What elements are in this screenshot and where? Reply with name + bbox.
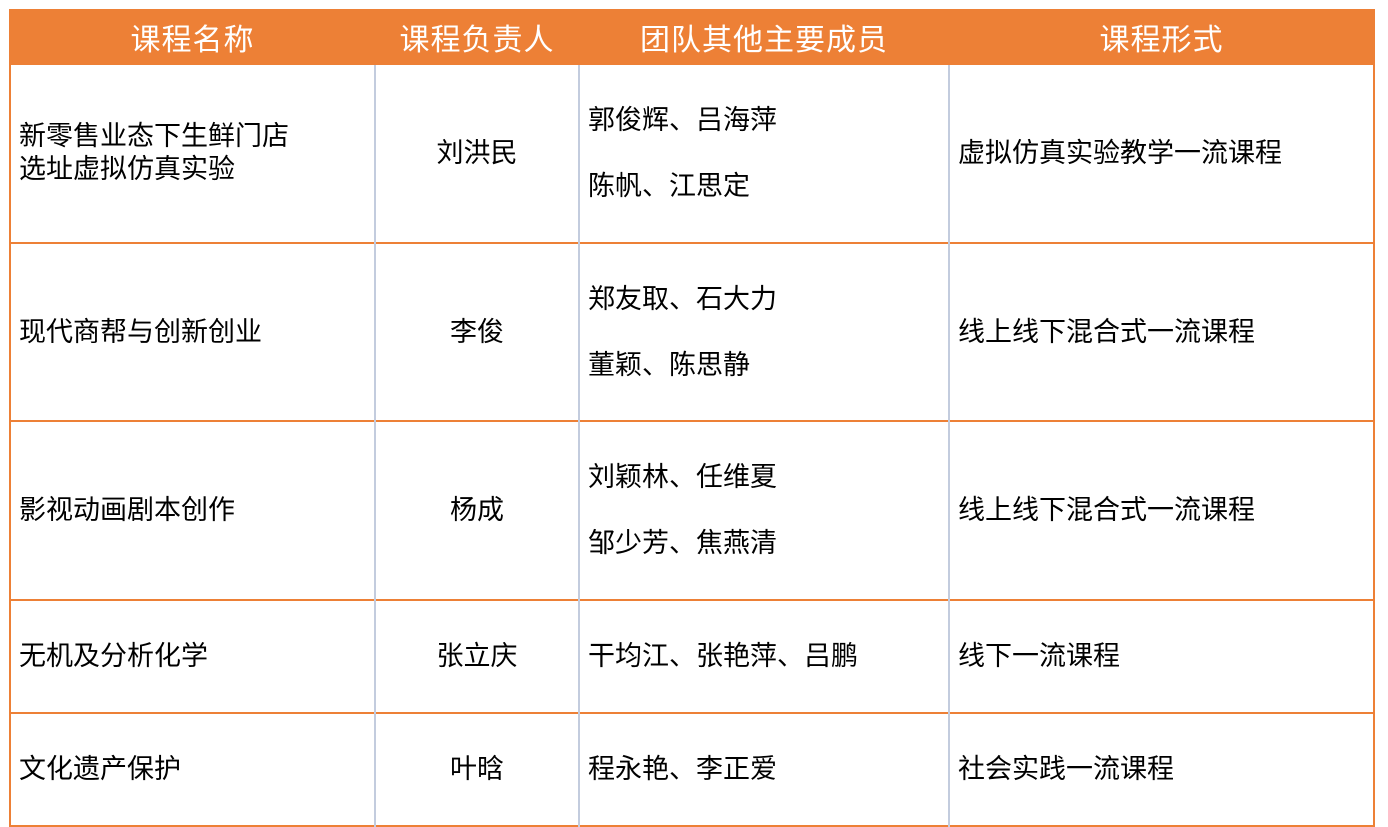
team-members-line-2: 邹少芳、焦燕清	[588, 527, 940, 560]
cell-team-members: 干均江、张艳萍、吕鹏	[579, 600, 949, 713]
cell-course-name: 影视动画剧本创作	[10, 421, 375, 600]
team-members-line-1: 郭俊辉、吕海萍	[588, 104, 940, 137]
cell-course-form: 线下一流课程	[949, 600, 1374, 713]
course-name-line-1: 现代商帮与创新创业	[19, 316, 366, 349]
header-row: 课程名称 课程负责人 团队其他主要成员 课程形式	[10, 10, 1374, 64]
cell-course-leader: 张立庆	[375, 600, 579, 713]
team-members-line-2: 董颖、陈思静	[588, 349, 940, 382]
course-name-line-1: 影视动画剧本创作	[19, 494, 366, 527]
cell-course-name: 文化遗产保护	[10, 713, 375, 826]
cell-team-members: 郭俊辉、吕海萍 陈帆、江思定	[579, 64, 949, 243]
course-name-line-1: 无机及分析化学	[19, 640, 366, 673]
team-members-line-1: 刘颖林、任维夏	[588, 461, 940, 494]
cell-course-form: 虚拟仿真实验教学一流课程	[949, 64, 1374, 243]
column-header-course-form: 课程形式	[949, 10, 1374, 64]
course-list-table: 课程名称 课程负责人 团队其他主要成员 课程形式 新零售业态下生鲜门店 选址虚拟…	[9, 9, 1375, 827]
table-row: 影视动画剧本创作 杨成 刘颖林、任维夏 邹少芳、焦燕清 线上线下混合式一流课程	[10, 421, 1374, 600]
column-header-team-members: 团队其他主要成员	[579, 10, 949, 64]
cell-course-name: 现代商帮与创新创业	[10, 243, 375, 422]
cell-course-leader: 李俊	[375, 243, 579, 422]
course-name-line-2: 选址虚拟仿真实验	[19, 153, 366, 186]
team-members-line-2: 陈帆、江思定	[588, 170, 940, 203]
cell-course-leader: 叶晗	[375, 713, 579, 826]
table-row: 无机及分析化学 张立庆 干均江、张艳萍、吕鹏 线下一流课程	[10, 600, 1374, 713]
team-members-line-1: 干均江、张艳萍、吕鹏	[588, 640, 940, 673]
column-header-course-name: 课程名称	[10, 10, 375, 64]
cell-course-name: 新零售业态下生鲜门店 选址虚拟仿真实验	[10, 64, 375, 243]
course-name-line-1: 新零售业态下生鲜门店	[19, 120, 366, 153]
cell-course-form: 线上线下混合式一流课程	[949, 243, 1374, 422]
cell-course-form: 社会实践一流课程	[949, 713, 1374, 826]
table-body: 新零售业态下生鲜门店 选址虚拟仿真实验 刘洪民 郭俊辉、吕海萍 陈帆、江思定 虚…	[10, 64, 1374, 826]
course-name-line-1: 文化遗产保护	[19, 753, 366, 786]
cell-course-name: 无机及分析化学	[10, 600, 375, 713]
table-row: 文化遗产保护 叶晗 程永艳、李正爱 社会实践一流课程	[10, 713, 1374, 826]
column-header-course-leader: 课程负责人	[375, 10, 579, 64]
cell-team-members: 郑友取、石大力 董颖、陈思静	[579, 243, 949, 422]
cell-course-leader: 杨成	[375, 421, 579, 600]
table-row: 现代商帮与创新创业 李俊 郑友取、石大力 董颖、陈思静 线上线下混合式一流课程	[10, 243, 1374, 422]
cell-team-members: 刘颖林、任维夏 邹少芳、焦燕清	[579, 421, 949, 600]
team-members-line-1: 程永艳、李正爱	[588, 753, 940, 786]
table-header: 课程名称 课程负责人 团队其他主要成员 课程形式	[10, 10, 1374, 64]
cell-course-leader: 刘洪民	[375, 64, 579, 243]
table-row: 新零售业态下生鲜门店 选址虚拟仿真实验 刘洪民 郭俊辉、吕海萍 陈帆、江思定 虚…	[10, 64, 1374, 243]
cell-course-form: 线上线下混合式一流课程	[949, 421, 1374, 600]
team-members-line-1: 郑友取、石大力	[588, 283, 940, 316]
cell-team-members: 程永艳、李正爱	[579, 713, 949, 826]
